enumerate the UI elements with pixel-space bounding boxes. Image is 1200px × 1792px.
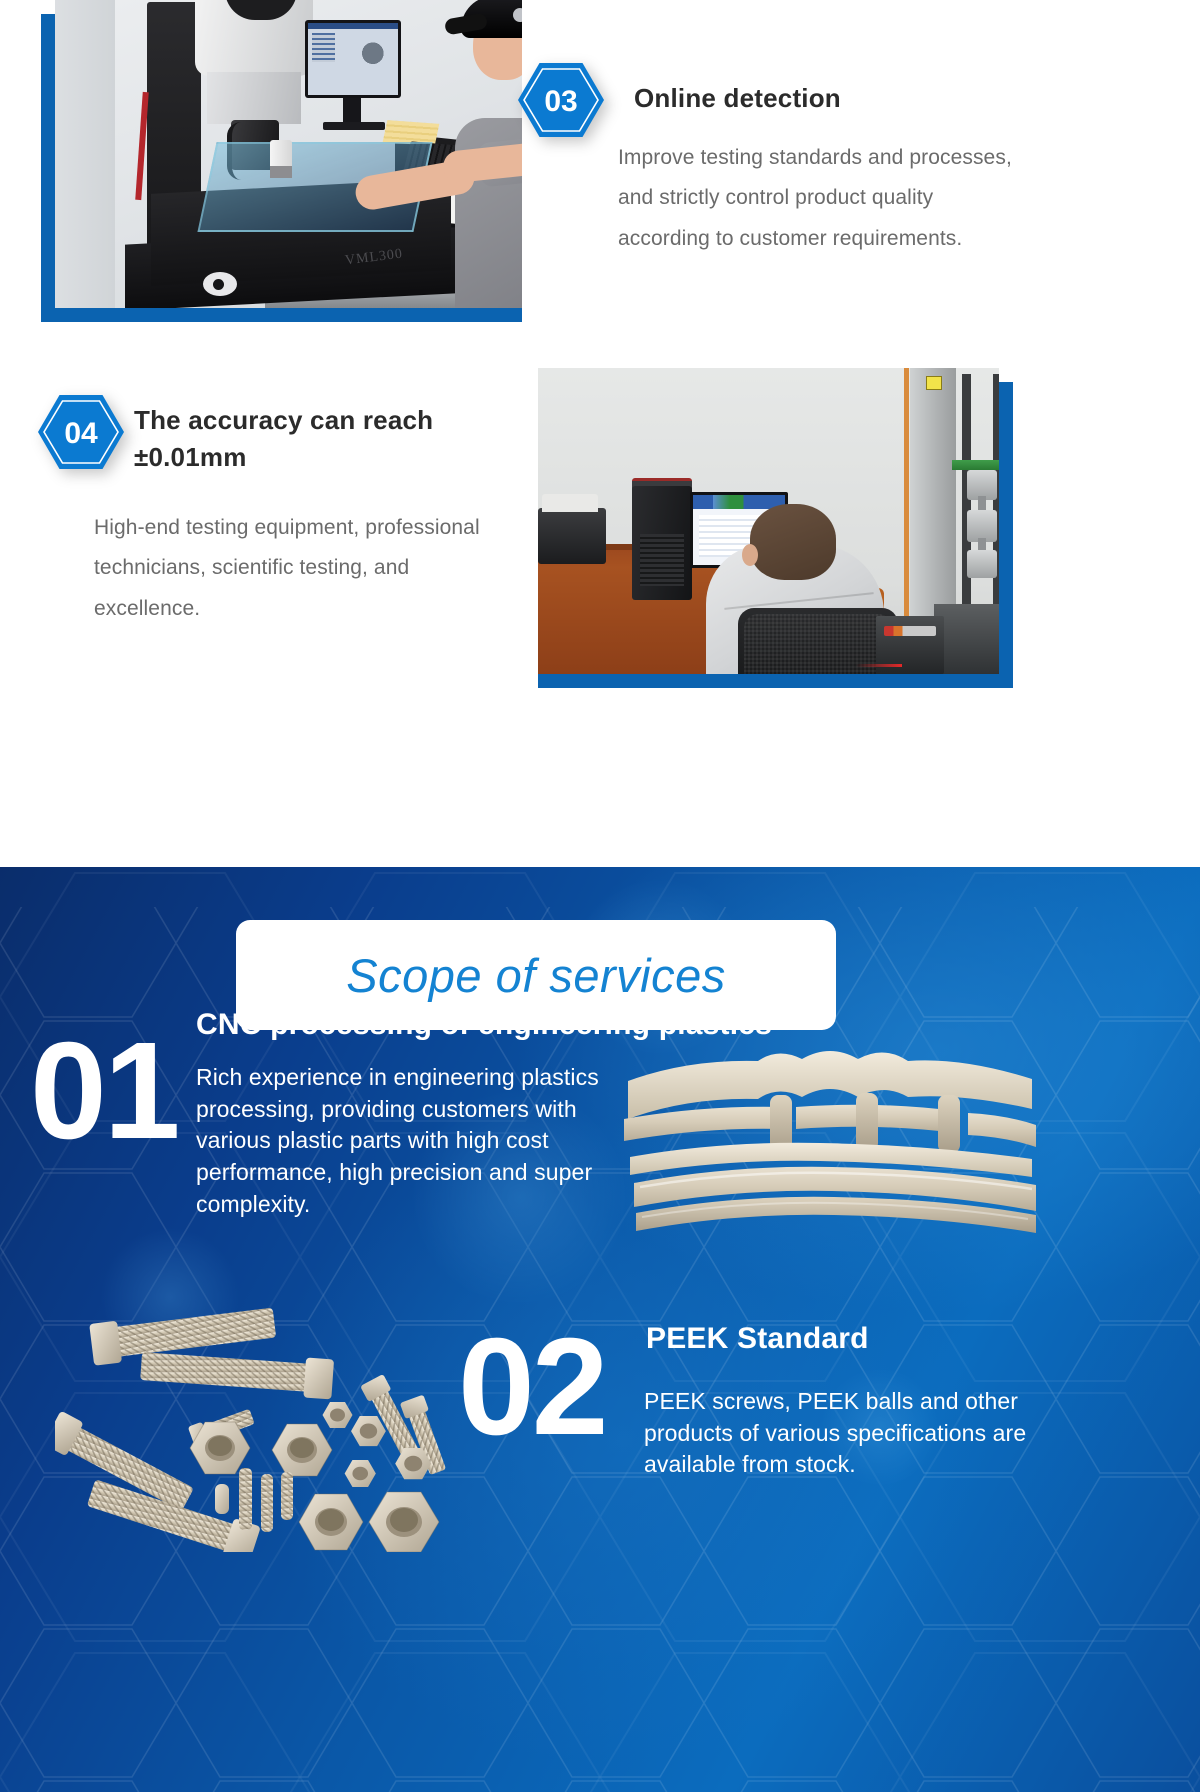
online-detection-photo: VML300 — [55, 0, 522, 308]
photo-frame-accent-left — [41, 14, 55, 322]
photo-frame-accent-bottom — [41, 308, 522, 322]
peek-screws-nuts-image — [55, 1272, 475, 1552]
peek-chain-plate-image — [620, 1035, 1040, 1260]
photo-frame-accent-right — [999, 382, 1013, 688]
features-section: VML300 03 Online detection Improve testi… — [0, 0, 1200, 867]
accuracy-photo — [538, 368, 999, 674]
scope-of-services-title: Scope of services — [346, 948, 725, 1003]
feature-04-title: The accuracy can reach ±0.01mm — [134, 402, 494, 476]
feature-03-body: Improve testing standards and processes,… — [618, 138, 1018, 259]
service-02-number: 02 — [458, 1318, 606, 1456]
online-detection-photo-frame: VML300 — [25, 0, 522, 322]
feature-badge-04-number: 04 — [64, 417, 98, 450]
service-01-body: Rich experience in engineering plastics … — [196, 1062, 608, 1221]
accuracy-photo-frame — [538, 368, 1013, 688]
feature-03-title: Online detection — [634, 80, 1064, 117]
feature-04-body: High-end testing equipment, professional… — [94, 508, 514, 629]
feature-badge-03-number: 03 — [544, 85, 577, 118]
service-01-number: 01 — [30, 1022, 178, 1160]
photo-frame-accent-bottom-2 — [538, 674, 1013, 688]
service-02-body: PEEK screws, PEEK balls and other produc… — [644, 1386, 1044, 1481]
feature-badge-04: 04 — [38, 394, 124, 470]
service-02-title: PEEK Standard — [646, 1322, 1046, 1356]
feature-badge-03: 03 — [518, 62, 604, 138]
